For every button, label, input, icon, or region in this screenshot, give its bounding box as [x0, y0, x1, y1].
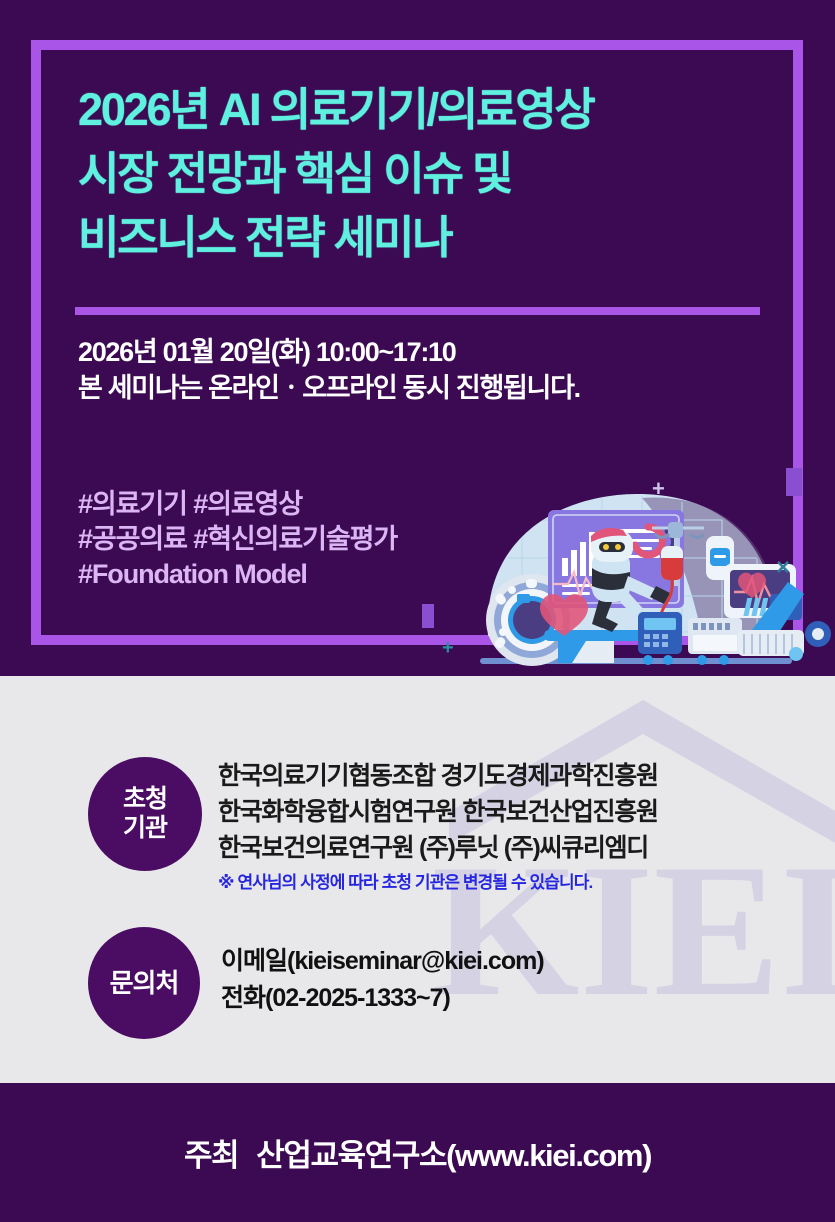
contact-email[interactable]: 이메일(kieiseminar@kiei.com): [221, 943, 781, 980]
invited-orgs-note: ※ 연사님의 사정에 따라 초청 기관은 변경될 수 있습니다.: [218, 868, 818, 898]
event-mode: 본 세미나는 온라인ㆍ오프라인 동시 진행됩니다.: [78, 370, 778, 406]
decoration-square-bottom: [422, 604, 434, 628]
hashtag-line-1: #의료기기 #의료영상: [78, 487, 498, 522]
event-datetime: 2026년 01월 20일(화) 10:00~17:10: [78, 334, 778, 370]
title-line-1: 2026년 AI 의료기기/의료영상: [78, 78, 778, 142]
hashtag-line-2: #공공의료 #혁신의료기술평가: [78, 522, 498, 557]
org-line-1: 한국의료기기협동조합 경기도경제과학진흥원: [218, 758, 818, 794]
event-meta: 2026년 01월 20일(화) 10:00~17:10 본 세미나는 온라인ㆍ…: [78, 334, 778, 406]
invited-organizations: 한국의료기기협동조합 경기도경제과학진흥원 한국화학융합시험연구원 한국보건산업…: [218, 758, 818, 898]
footer-host-label: 주최: [184, 1138, 238, 1173]
plus-icon-bottom: +: [442, 638, 454, 658]
badge-contact-label: 문의처: [110, 969, 179, 998]
org-line-2: 한국화학융합시험연구원 한국보건산업진흥원: [218, 794, 818, 830]
cross-icon: ×: [776, 556, 790, 580]
seminar-poster: + + × 2026년 AI 의료기기/의료영상 시장 전망과 핵심 이슈 및 …: [0, 0, 835, 1222]
title-divider: [75, 307, 760, 315]
hashtag-list: #의료기기 #의료영상 #공공의료 #혁신의료기술평가 #Foundation …: [78, 487, 498, 592]
contact-details: 이메일(kieiseminar@kiei.com) 전화(02-2025-133…: [221, 943, 781, 1017]
badge-contact: 문의처: [88, 927, 200, 1039]
hero-section: + + × 2026년 AI 의료기기/의료영상 시장 전망과 핵심 이슈 및 …: [0, 0, 835, 676]
title-line-3: 비즈니스 전략 세미나: [78, 206, 778, 270]
footer-host-row: 주최산업교육연구소(www.kiei.com): [184, 1130, 651, 1175]
poster-title: 2026년 AI 의료기기/의료영상 시장 전망과 핵심 이슈 및 비즈니스 전…: [78, 78, 778, 270]
badge-invited-orgs: 초청 기관: [88, 757, 202, 871]
plus-icon-top: +: [652, 478, 665, 500]
org-line-3: 한국보건의료연구원 (주)루닛 (주)씨큐리엠디: [218, 830, 818, 866]
contact-phone[interactable]: 전화(02-2025-1333~7): [221, 980, 781, 1017]
footer-host-name[interactable]: 산업교육연구소(www.kiei.com): [256, 1138, 651, 1173]
title-line-2: 시장 전망과 핵심 이슈 및: [78, 142, 778, 206]
info-section: KIEI 초청 기관 한국의료기기협동조합 경기도경제과학진흥원 한국화학융합시…: [0, 676, 835, 1083]
badge-invited-line-2: 기관: [123, 814, 167, 843]
badge-invited-line-1: 초청: [123, 785, 167, 814]
decoration-square-top: [786, 468, 802, 496]
hashtag-line-3: #Foundation Model: [78, 557, 498, 592]
footer-section: 주최산업교육연구소(www.kiei.com): [0, 1083, 835, 1222]
